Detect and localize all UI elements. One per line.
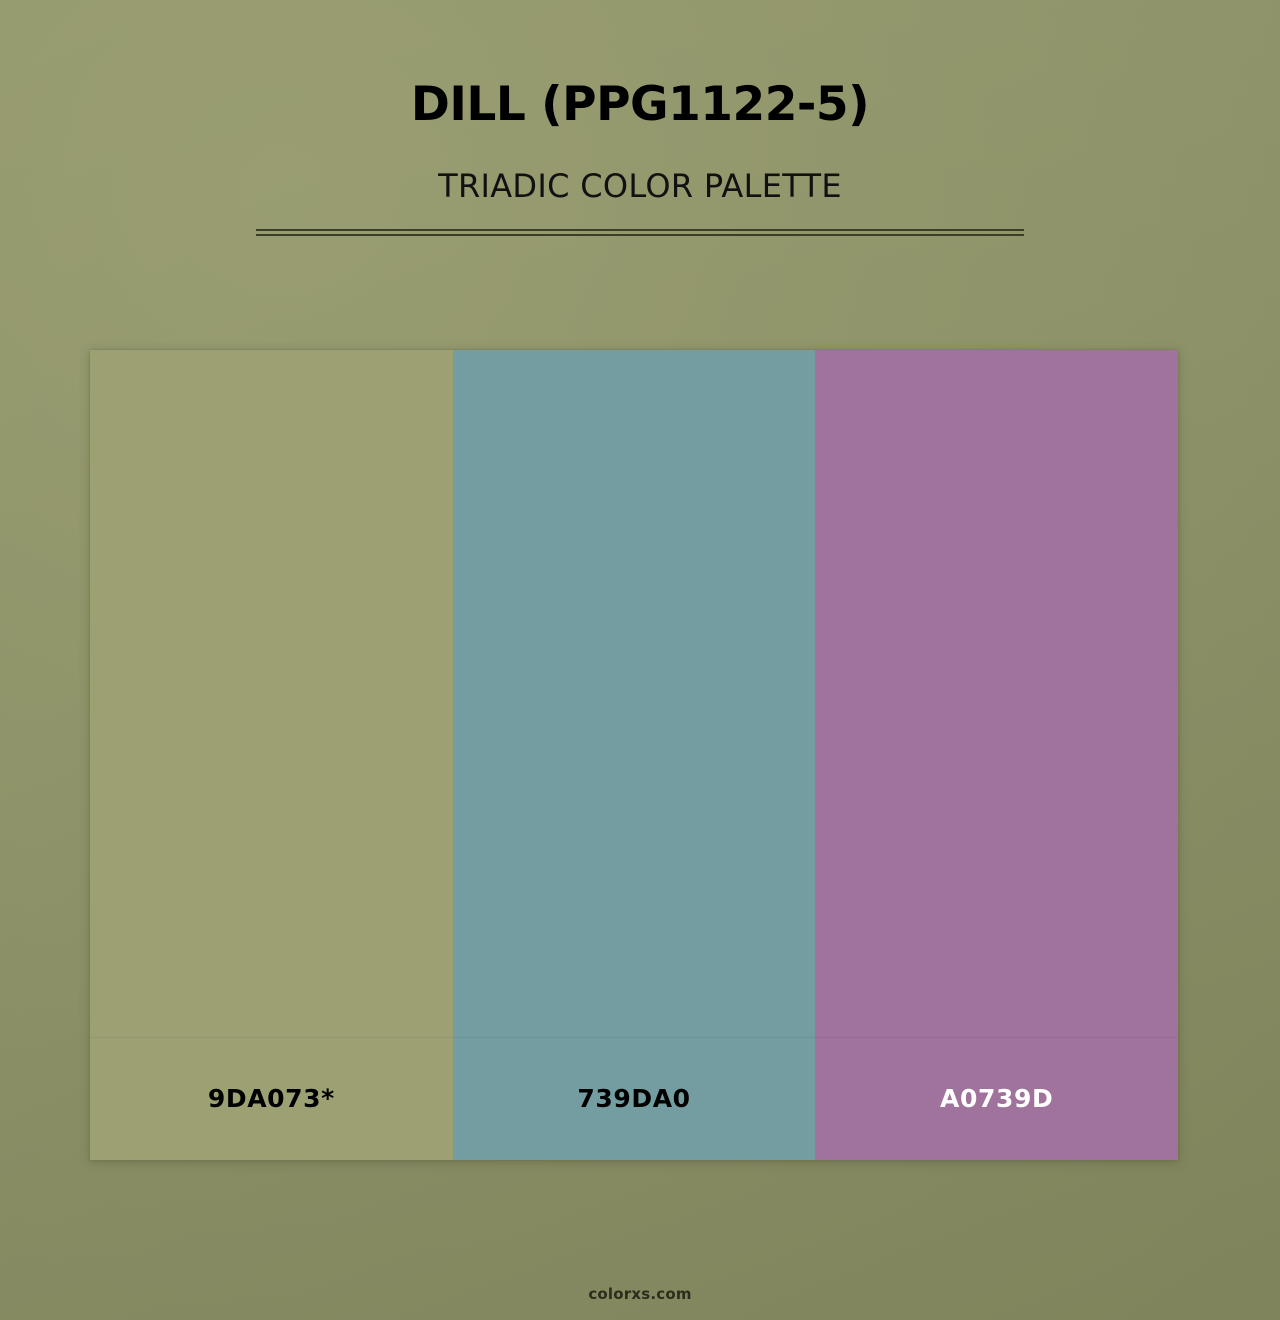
page-title: DILL (PPG1122-5) [0,74,1280,136]
color-swatch-1[interactable] [90,350,453,1037]
page-root: DILL (PPG1122-5) TRIADIC COLOR PALETTE 9… [0,0,1280,1320]
header-divider-line-bottom [256,234,1024,236]
header-divider [256,229,1024,237]
swatch-hex-label-3: A0739D [940,1084,1053,1114]
swatch-column-1[interactable]: 9DA073* [90,350,453,1160]
site-attribution: colorxs.com [588,1285,691,1303]
swatch-label-strip-3[interactable]: A0739D [815,1037,1178,1160]
palette-panel: 9DA073* 739DA0 A0739D [90,350,1178,1160]
swatch-hex-label-2: 739DA0 [577,1084,690,1114]
swatch-label-strip-2[interactable]: 739DA0 [453,1037,816,1160]
header-divider-line-top [256,229,1024,231]
color-swatch-2[interactable] [453,350,816,1037]
footer: colorxs.com [0,1284,1280,1304]
page-subtitle: TRIADIC COLOR PALETTE [0,163,1280,209]
swatch-label-strip-1[interactable]: 9DA073* [90,1037,453,1160]
swatch-column-2[interactable]: 739DA0 [453,350,816,1160]
color-swatch-3[interactable] [815,350,1178,1037]
swatch-column-3[interactable]: A0739D [815,350,1178,1160]
swatch-hex-label-1: 9DA073* [208,1084,335,1114]
